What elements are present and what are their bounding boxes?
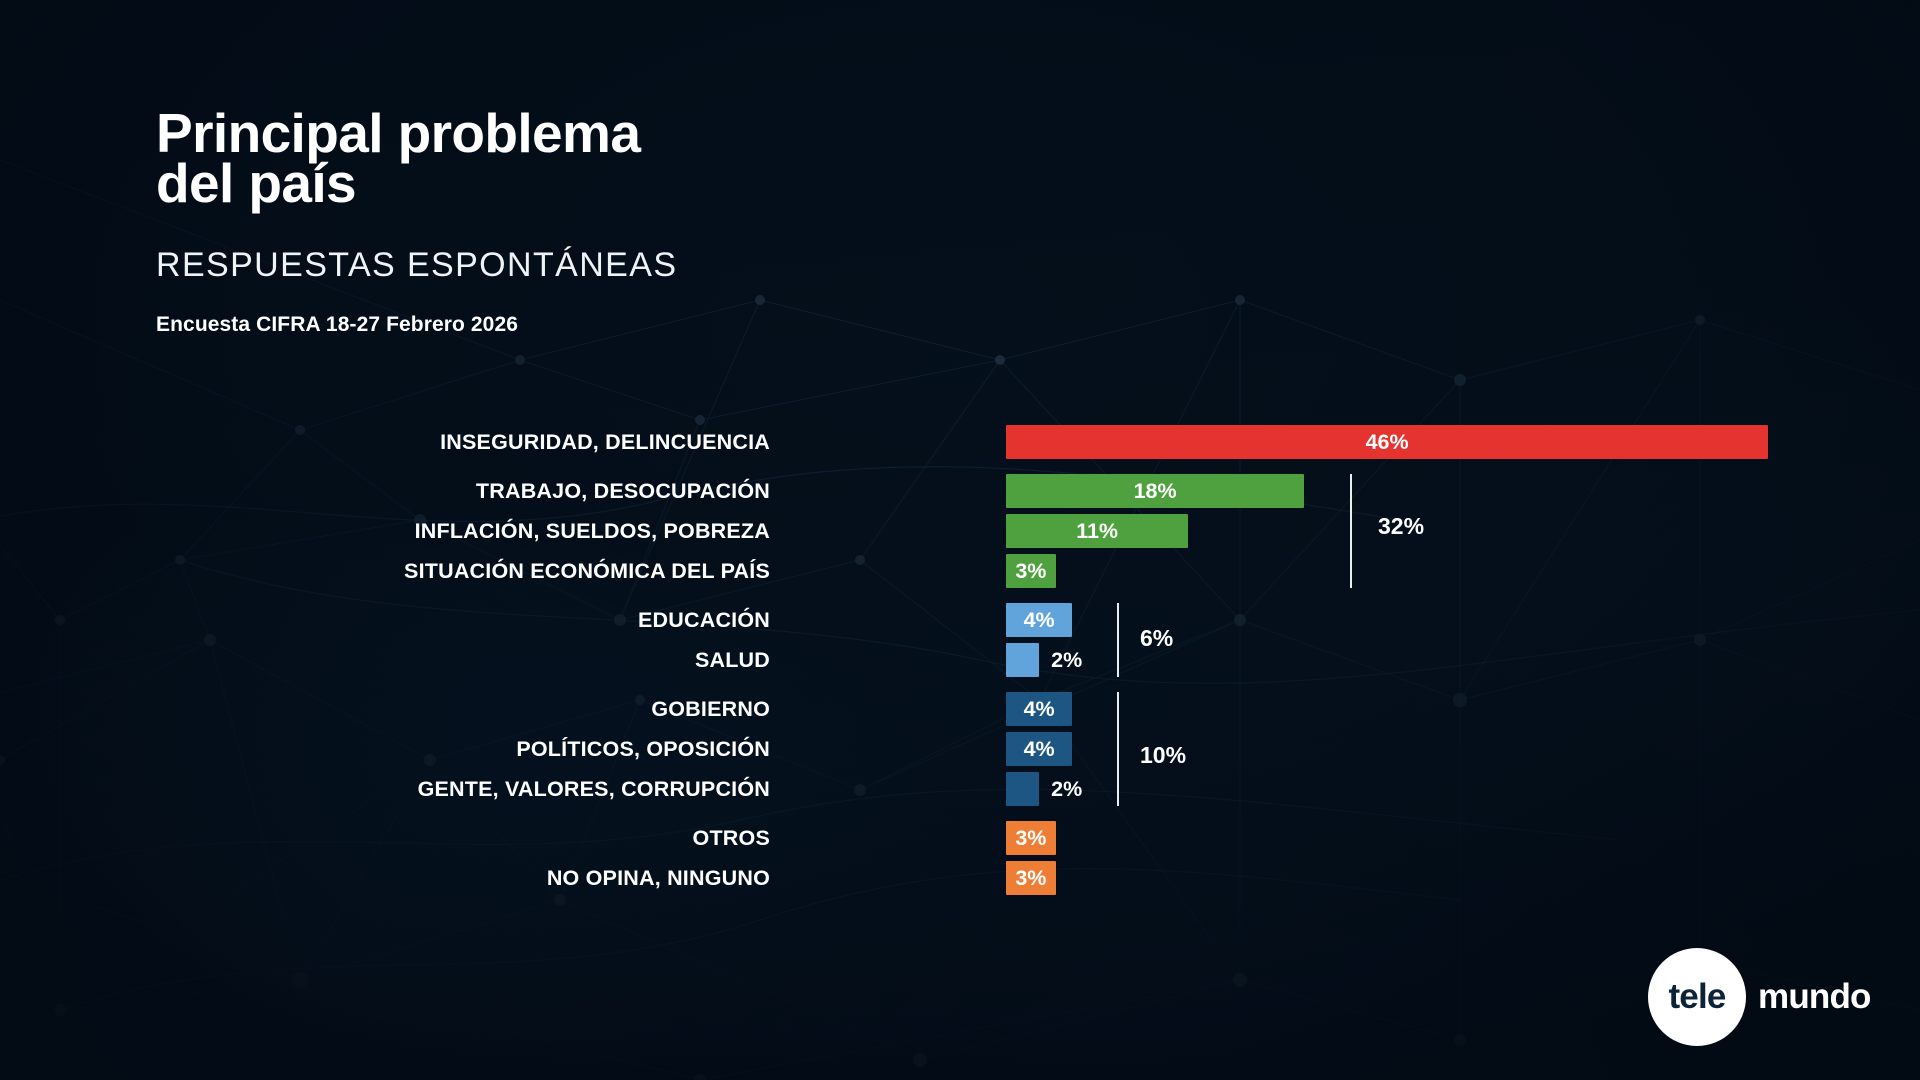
bar-row: INSEGURIDAD, DELINCUENCIA46% [0,425,1920,459]
bar-value-label: 2% [1051,772,1082,806]
bar-row: GENTE, VALORES, CORRUPCIÓN2% [0,772,1920,806]
bar-economia: 18% [1006,474,1304,508]
bar-politica: 4% [1006,692,1072,726]
bar-politica: 4% [1006,732,1072,766]
logo-tele-text: tele [1658,948,1736,1046]
bar-politica [1006,772,1039,806]
bar-value-label: 2% [1051,643,1082,677]
bar-value-label: 4% [1006,732,1072,766]
bar-economia: 11% [1006,514,1188,548]
bar-category-label: TRABAJO, DESOCUPACIÓN [70,474,770,508]
bar-row: SALUD2% [0,643,1920,677]
bar-otros: 3% [1006,821,1056,855]
bar-row: TRABAJO, DESOCUPACIÓN18% [0,474,1920,508]
bar-category-label: POLÍTICOS, OPOSICIÓN [70,732,770,766]
bar-value-label: 46% [1006,425,1768,459]
bar-economia: 3% [1006,554,1056,588]
infographic-slide: Principal problema del país RESPUESTAS E… [0,0,1920,1080]
bar-row: EDUCACIÓN4% [0,603,1920,637]
bar-value-label: 4% [1006,692,1072,726]
bar-category-label: GOBIERNO [70,692,770,726]
bar-row: GOBIERNO4% [0,692,1920,726]
bar-value-label: 3% [1006,554,1056,588]
bar-row: OTROS3% [0,821,1920,855]
bar-category-label: SALUD [70,643,770,677]
bar-value-label: 3% [1006,821,1056,855]
bar-social [1006,643,1039,677]
group-total-label: 6% [1140,625,1173,652]
bar-row: INFLACIÓN, SUELDOS, POBREZA11% [0,514,1920,548]
group-total-label: 10% [1140,742,1186,769]
bar-value-label: 3% [1006,861,1056,895]
bar-category-label: NO OPINA, NINGUNO [70,861,770,895]
bar-category-label: EDUCACIÓN [70,603,770,637]
bar-category-label: GENTE, VALORES, CORRUPCIÓN [70,772,770,806]
bar-value-label: 18% [1006,474,1304,508]
logo-mundo-text: mundo [1758,948,1871,1046]
group-bracket-line [1117,692,1119,806]
bar-category-label: INFLACIÓN, SUELDOS, POBREZA [70,514,770,548]
bar-category-label: OTROS [70,821,770,855]
bar-value-label: 4% [1006,603,1072,637]
group-bracket-line [1117,603,1119,677]
bar-category-label: INSEGURIDAD, DELINCUENCIA [70,425,770,459]
group-bracket-line [1350,474,1352,588]
bar-row: SITUACIÓN ECONÓMICA DEL PAÍS3% [0,554,1920,588]
bar-row: NO OPINA, NINGUNO3% [0,861,1920,895]
bar-otros: 3% [1006,861,1056,895]
group-total-label: 32% [1378,513,1424,540]
bar-category-label: SITUACIÓN ECONÓMICA DEL PAÍS [70,554,770,588]
bar-social: 4% [1006,603,1072,637]
bar-value-label: 11% [1006,514,1188,548]
bar-row: POLÍTICOS, OPOSICIÓN4% [0,732,1920,766]
bar-chart: INSEGURIDAD, DELINCUENCIA46%TRABAJO, DES… [0,0,1920,1080]
bar-inseguridad: 46% [1006,425,1768,459]
